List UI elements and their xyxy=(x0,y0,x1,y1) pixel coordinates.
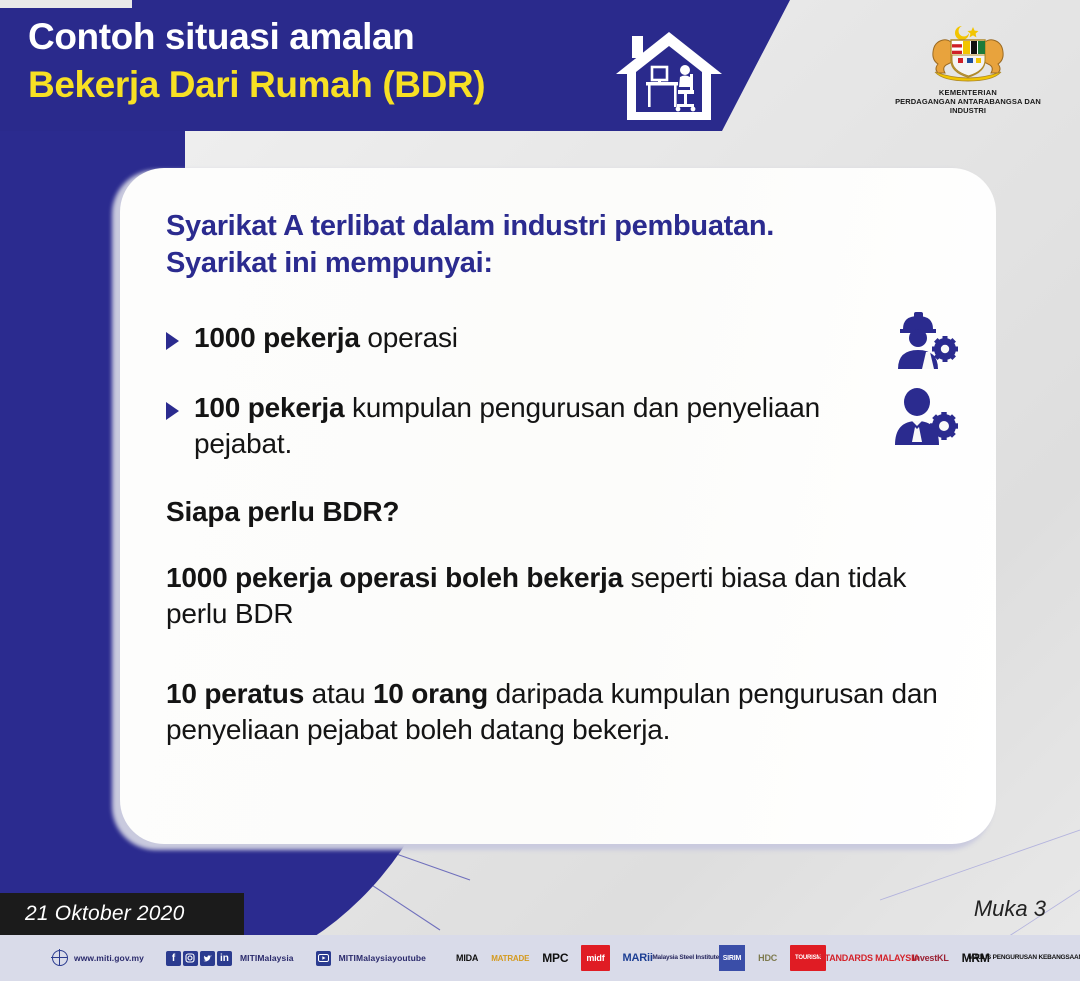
partner-logo-investkl: InvestKL xyxy=(912,945,948,971)
infographic-page: Contoh situasi amalan Bekerja Dari Rumah… xyxy=(0,0,1080,981)
linkedin-icon[interactable]: in xyxy=(217,951,232,966)
bullet-item-1: 1000 pekerja operasi xyxy=(166,320,952,356)
partner-logo-matrade: MATRADE xyxy=(491,945,529,971)
paragraph-2-mid: atau xyxy=(304,678,373,709)
globe-icon xyxy=(52,950,68,966)
header-notch xyxy=(0,0,132,8)
card-lead-text: Syarikat A terlibat dalam industri pembu… xyxy=(166,208,952,282)
facebook-icon[interactable]: f xyxy=(166,951,181,966)
header-title-line1: Contoh situasi amalan xyxy=(28,14,485,60)
question-heading: Siapa perlu BDR? xyxy=(166,496,952,528)
twitter-icon[interactable] xyxy=(200,951,215,966)
bullet-item-2: 100 pekerja kumpulan pengurusan dan peny… xyxy=(166,390,952,462)
partner-logo-majlis-pengurusan-kebangsaan: MAJLIS PENGURUSAN KEBANGSAAN xyxy=(1003,945,1049,971)
website-link[interactable]: www.miti.gov.my xyxy=(52,950,144,966)
manager-tie-gear-icon xyxy=(890,384,960,446)
partner-logo-malaysia-steel-institute: Malaysia Steel Institute xyxy=(666,945,706,971)
partner-logo-marii: MARii xyxy=(623,945,653,971)
house-work-from-home-icon xyxy=(610,26,728,131)
paragraph-2-bold2: 10 orang xyxy=(373,678,488,709)
youtube-link[interactable]: MITIMalaysiayoutube xyxy=(316,951,426,966)
partner-logo-midf: midf xyxy=(581,945,609,971)
paragraph-1-bold: 1000 pekerja operasi boleh bekerja xyxy=(166,562,623,593)
date-text: 21 Oktober 2020 xyxy=(0,902,184,926)
worker-hardhat-gear-icon xyxy=(890,308,960,370)
bullet-1-bold: 1000 pekerja xyxy=(194,322,360,353)
triangle-bullet-icon xyxy=(166,402,179,420)
bullet-2-bold: 100 pekerja xyxy=(194,392,344,423)
youtube-icon[interactable] xyxy=(316,951,331,966)
youtube-handle-label: MITIMalaysiayoutube xyxy=(339,953,426,963)
partner-logo-mida: MIDA xyxy=(456,945,478,971)
partner-logo-mpc: MPC xyxy=(542,945,568,971)
instagram-icon[interactable] xyxy=(183,951,198,966)
card-lead-line1: Syarikat A terlibat dalam industri pembu… xyxy=(166,208,952,245)
partner-logos: MIDA MATRADE MPC midf MARii Malaysia Ste… xyxy=(456,945,1049,971)
header-title: Contoh situasi amalan Bekerja Dari Rumah… xyxy=(28,14,485,110)
card-lead-line2: Syarikat ini mempunyai: xyxy=(166,245,952,282)
paragraph-2-bold1: 10 peratus xyxy=(166,678,304,709)
footer-bar: www.miti.gov.my f in MITIMalaysia xyxy=(0,935,1080,981)
content-card: Syarikat A terlibat dalam industri pembu… xyxy=(120,168,996,844)
bullet-2-text: 100 pekerja kumpulan pengurusan dan peny… xyxy=(194,390,884,462)
ministry-crest: KEMENTERIAN PERDAGANGAN ANTARABANGSA DAN… xyxy=(880,22,1056,115)
crest-label-line1: KEMENTERIAN xyxy=(880,88,1056,97)
triangle-bullet-icon xyxy=(166,332,179,350)
bullet-1-rest: operasi xyxy=(360,322,458,353)
paragraph-2: 10 peratus atau 10 orang daripada kumpul… xyxy=(166,676,952,748)
website-label: www.miti.gov.my xyxy=(74,953,144,963)
date-tag: 21 Oktober 2020 xyxy=(0,893,244,935)
partner-logo-sirim: SIRIM xyxy=(719,945,745,971)
crest-label-line2: PERDAGANGAN ANTARABANGSA DAN INDUSTRI xyxy=(880,97,1056,115)
social-handle-group[interactable]: f in MITIMalaysia xyxy=(166,951,294,966)
page-marker: Muka 3 xyxy=(974,896,1046,922)
partner-logo-hdc: HDC xyxy=(758,945,777,971)
bullet-1-text: 1000 pekerja operasi xyxy=(194,320,458,356)
header-title-line2: Bekerja Dari Rumah (BDR) xyxy=(28,60,485,110)
footer-social-group: www.miti.gov.my f in MITIMalaysia xyxy=(52,950,448,966)
paragraph-1: 1000 pekerja operasi boleh bekerja seper… xyxy=(166,560,952,632)
partner-logo-standards-malaysia: STANDARDS MALAYSIA xyxy=(839,945,899,971)
social-handle-label: MITIMalaysia xyxy=(240,953,294,963)
